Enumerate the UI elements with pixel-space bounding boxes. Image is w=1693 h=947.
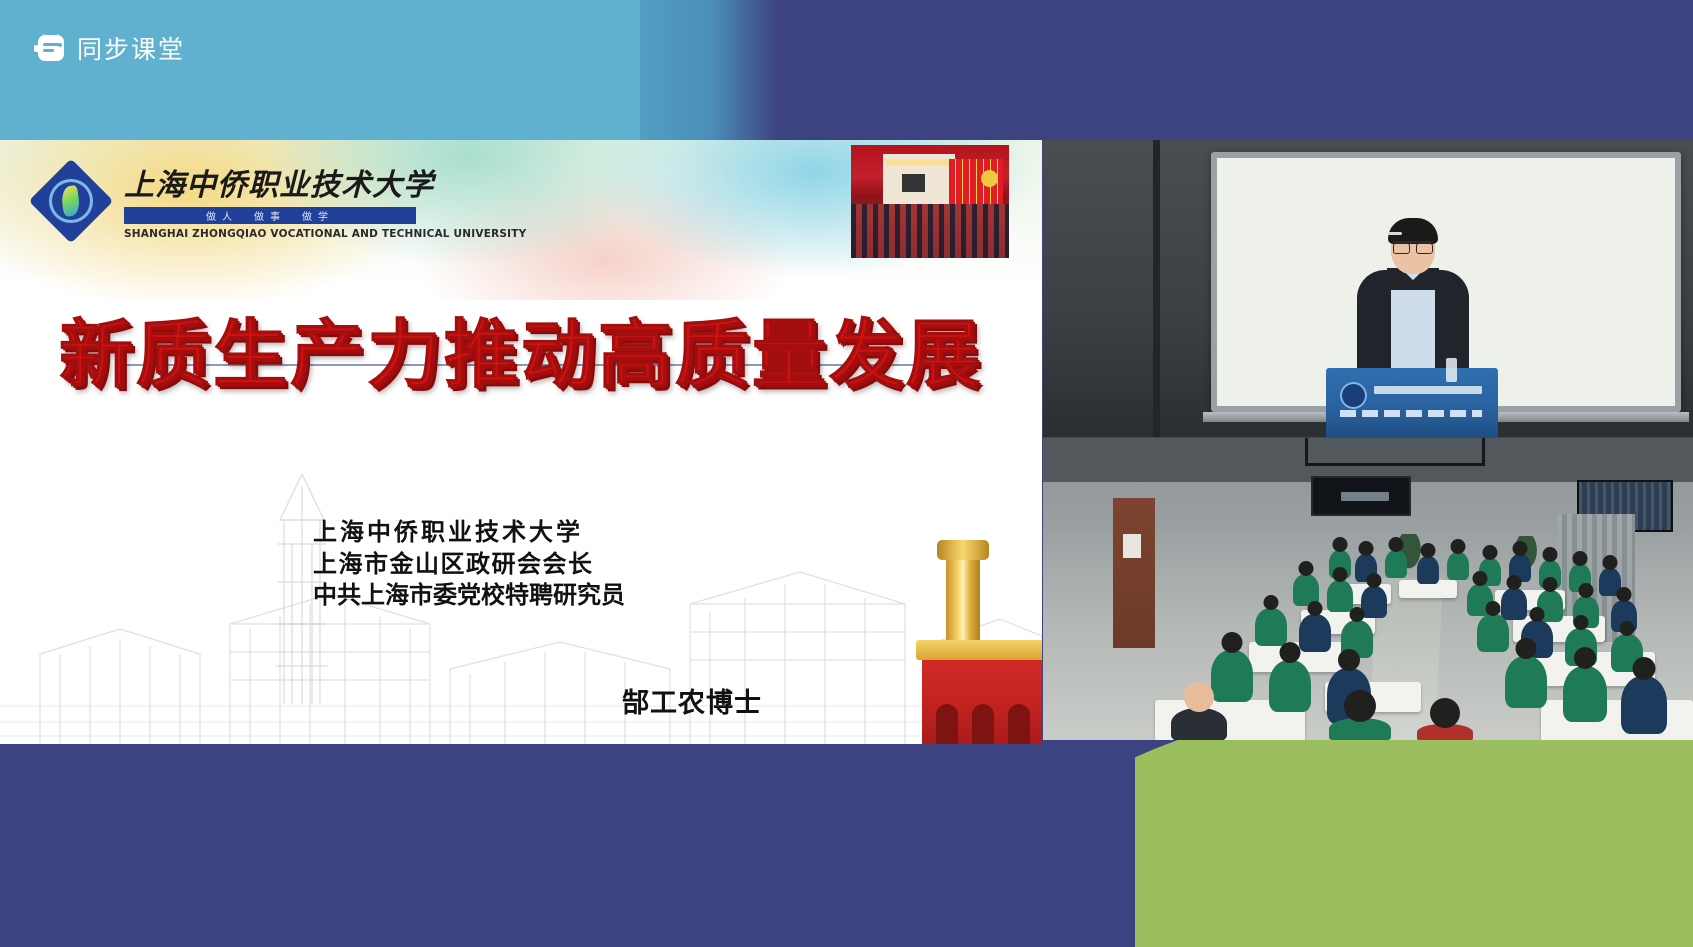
glasses-icon	[1393, 241, 1433, 250]
student	[1211, 650, 1253, 702]
water-bottle	[1446, 358, 1457, 382]
student	[1501, 588, 1527, 620]
classroom-door	[1113, 498, 1155, 648]
student	[1327, 580, 1353, 612]
student	[1329, 718, 1391, 740]
microphone-icon	[1388, 232, 1402, 235]
ceiling-display	[1305, 438, 1485, 466]
podium-emblem-icon	[1340, 382, 1367, 409]
classroom-video[interactable]	[1043, 438, 1693, 740]
lecturer-video[interactable]	[1043, 140, 1693, 437]
student	[1477, 614, 1509, 652]
student	[1417, 556, 1439, 584]
wall-column	[1153, 140, 1160, 437]
university-name-cn: 上海中侨职业技术大学	[124, 169, 434, 202]
student	[1255, 608, 1287, 646]
speaker-name: 郜工农博士	[622, 681, 762, 720]
university-name-en: SHANGHAI ZHONGQIAO VOCATIONAL AND TECHNI…	[124, 228, 526, 240]
podium	[1326, 368, 1498, 437]
student	[1563, 666, 1607, 722]
cat-logo-icon	[36, 35, 66, 61]
slide-title: 新质生产力推动高质量发展	[0, 295, 1042, 402]
affiliation-line-1: 上海中侨职业技术大学	[313, 517, 625, 549]
student	[1171, 708, 1227, 740]
app-brand[interactable]: 同步课堂	[36, 30, 185, 66]
app-header: 同步课堂	[0, 0, 1693, 140]
student	[1299, 614, 1331, 652]
presentation-slide[interactable]: 上海中侨职业技术大学 做人 做事 做学 SHANGHAI ZHONGQIAO V…	[0, 140, 1042, 744]
university-emblem-icon	[32, 162, 110, 240]
speaker-affiliations: 上海中侨职业技术大学 上海市金山区政研会会长 中共上海市委党校特聘研究员	[313, 517, 625, 612]
student	[1385, 550, 1407, 578]
student	[1621, 676, 1667, 734]
university-motto: 做人 做事 做学	[124, 207, 416, 224]
student	[1447, 552, 1469, 580]
affiliation-line-3: 中共上海市委党校特聘研究员	[313, 580, 625, 612]
university-logo: 上海中侨职业技术大学 做人 做事 做学 SHANGHAI ZHONGQIAO V…	[32, 160, 424, 242]
student	[1505, 656, 1547, 708]
door-notice	[1123, 534, 1141, 558]
affiliation-line-2: 上海市金山区政研会会长	[313, 549, 625, 581]
party-congress-photo	[851, 145, 1009, 258]
navy-background	[0, 740, 1135, 947]
student	[1269, 660, 1311, 712]
lecturer-figure	[1343, 222, 1483, 382]
header-blue-panel	[0, 0, 640, 140]
student	[1361, 586, 1387, 618]
app-title: 同步课堂	[77, 30, 185, 66]
student	[1417, 724, 1473, 740]
tiananmen-gate-decor	[922, 654, 1042, 744]
wall-tv	[1311, 476, 1411, 516]
